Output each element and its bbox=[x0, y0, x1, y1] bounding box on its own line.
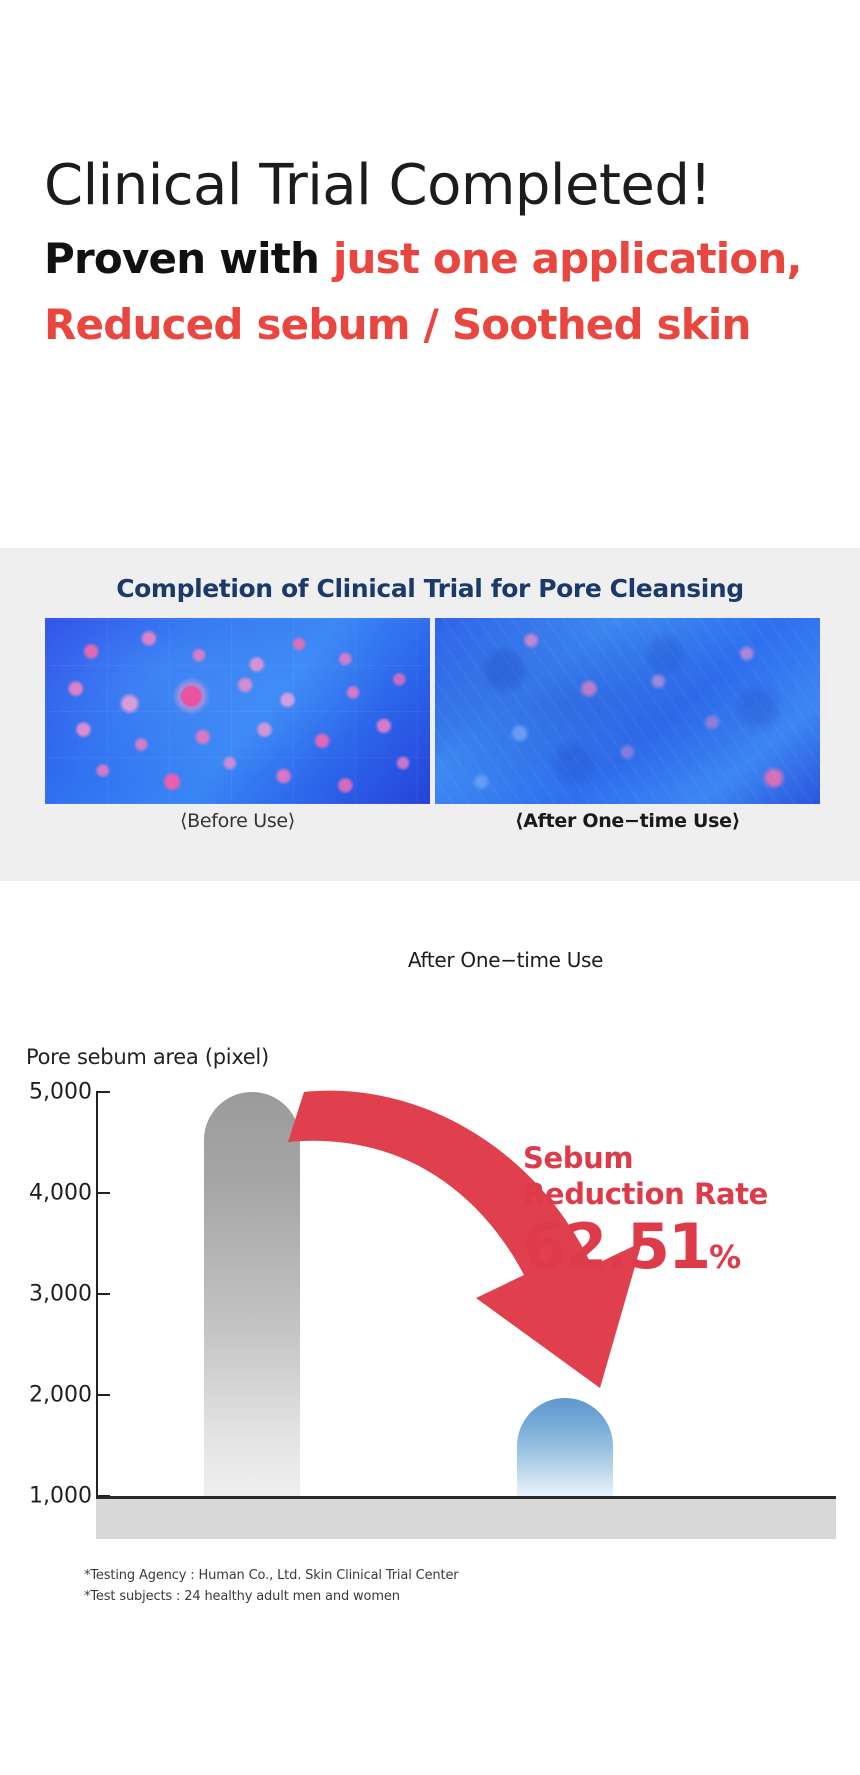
x-label-after-one-time-use: After One−time Use bbox=[383, 940, 628, 980]
reduction-callout: Sebum Reduction Rate 62.51% bbox=[523, 1140, 823, 1290]
y-axis-title: Pore sebum area (pixel) bbox=[26, 1045, 269, 1069]
caption-after-one-time-use: ⟨After One−time Use⟩ bbox=[515, 810, 740, 832]
hero-line2-plain: Proven with bbox=[44, 234, 333, 283]
uv-skin-photo-before bbox=[45, 618, 430, 804]
uv-photo-row bbox=[45, 618, 820, 804]
hero-title-line-1: Clinical Trial Completed! bbox=[44, 150, 860, 222]
trial-panel-title: Completion of Clinical Trial for Pore Cl… bbox=[0, 574, 860, 603]
hero-title-line-3: Reduced sebum / Soothed skin bbox=[44, 294, 860, 356]
footnote-block: *Testing Agency : Human Co., Ltd. Skin C… bbox=[84, 1565, 459, 1607]
x-label-before-use: Before Use bbox=[108, 940, 288, 980]
y-tick-label: 1,000 bbox=[0, 1484, 92, 1509]
footnote-test-subjects: *Test subjects : 24 healthy adult men an… bbox=[84, 1586, 459, 1607]
bar-after-one-time-use bbox=[517, 1398, 613, 1496]
y-tick-mark bbox=[96, 1394, 110, 1396]
y-tick-mark bbox=[96, 1495, 110, 1497]
x-axis-label-band bbox=[96, 1499, 836, 1539]
callout-value: 62.51 bbox=[523, 1210, 709, 1283]
sebum-reduction-chart: Pore sebum area (pixel) 5,000 4,000 3,00… bbox=[0, 940, 860, 1700]
caption-after-wrap: ⟨After One−time Use⟩ bbox=[435, 810, 820, 832]
caption-before-use: ⟨Before Use⟩ bbox=[180, 810, 295, 832]
uv-photo-caption-row: ⟨Before Use⟩ ⟨After One−time Use⟩ bbox=[45, 810, 820, 832]
y-tick-label: 5,000 bbox=[0, 1080, 92, 1105]
callout-line-2: Reduction Rate bbox=[523, 1176, 823, 1212]
y-axis-line bbox=[96, 1092, 98, 1498]
hero-heading-block: Clinical Trial Completed! Proven with ju… bbox=[0, 150, 860, 356]
footnote-testing-agency: *Testing Agency : Human Co., Ltd. Skin C… bbox=[84, 1565, 459, 1586]
callout-line-1: Sebum bbox=[523, 1140, 823, 1176]
callout-value-row: 62.51% bbox=[523, 1214, 823, 1290]
caption-before-wrap: ⟨Before Use⟩ bbox=[45, 810, 430, 832]
y-tick-label: 2,000 bbox=[0, 1383, 92, 1408]
y-tick-label: 3,000 bbox=[0, 1282, 92, 1307]
y-tick-mark bbox=[96, 1091, 110, 1093]
uv-skin-photo-after bbox=[435, 618, 820, 804]
hero-line2-accent: just one application, bbox=[333, 234, 802, 283]
y-tick-mark bbox=[96, 1293, 110, 1295]
clinical-trial-panel: Completion of Clinical Trial for Pore Cl… bbox=[0, 548, 860, 881]
hero-title-line-2: Proven with just one application, bbox=[44, 228, 860, 290]
y-tick-mark bbox=[96, 1192, 110, 1194]
callout-unit: % bbox=[709, 1238, 741, 1276]
promo-page: Clinical Trial Completed! Proven with ju… bbox=[0, 0, 860, 1775]
y-tick-label: 4,000 bbox=[0, 1181, 92, 1206]
